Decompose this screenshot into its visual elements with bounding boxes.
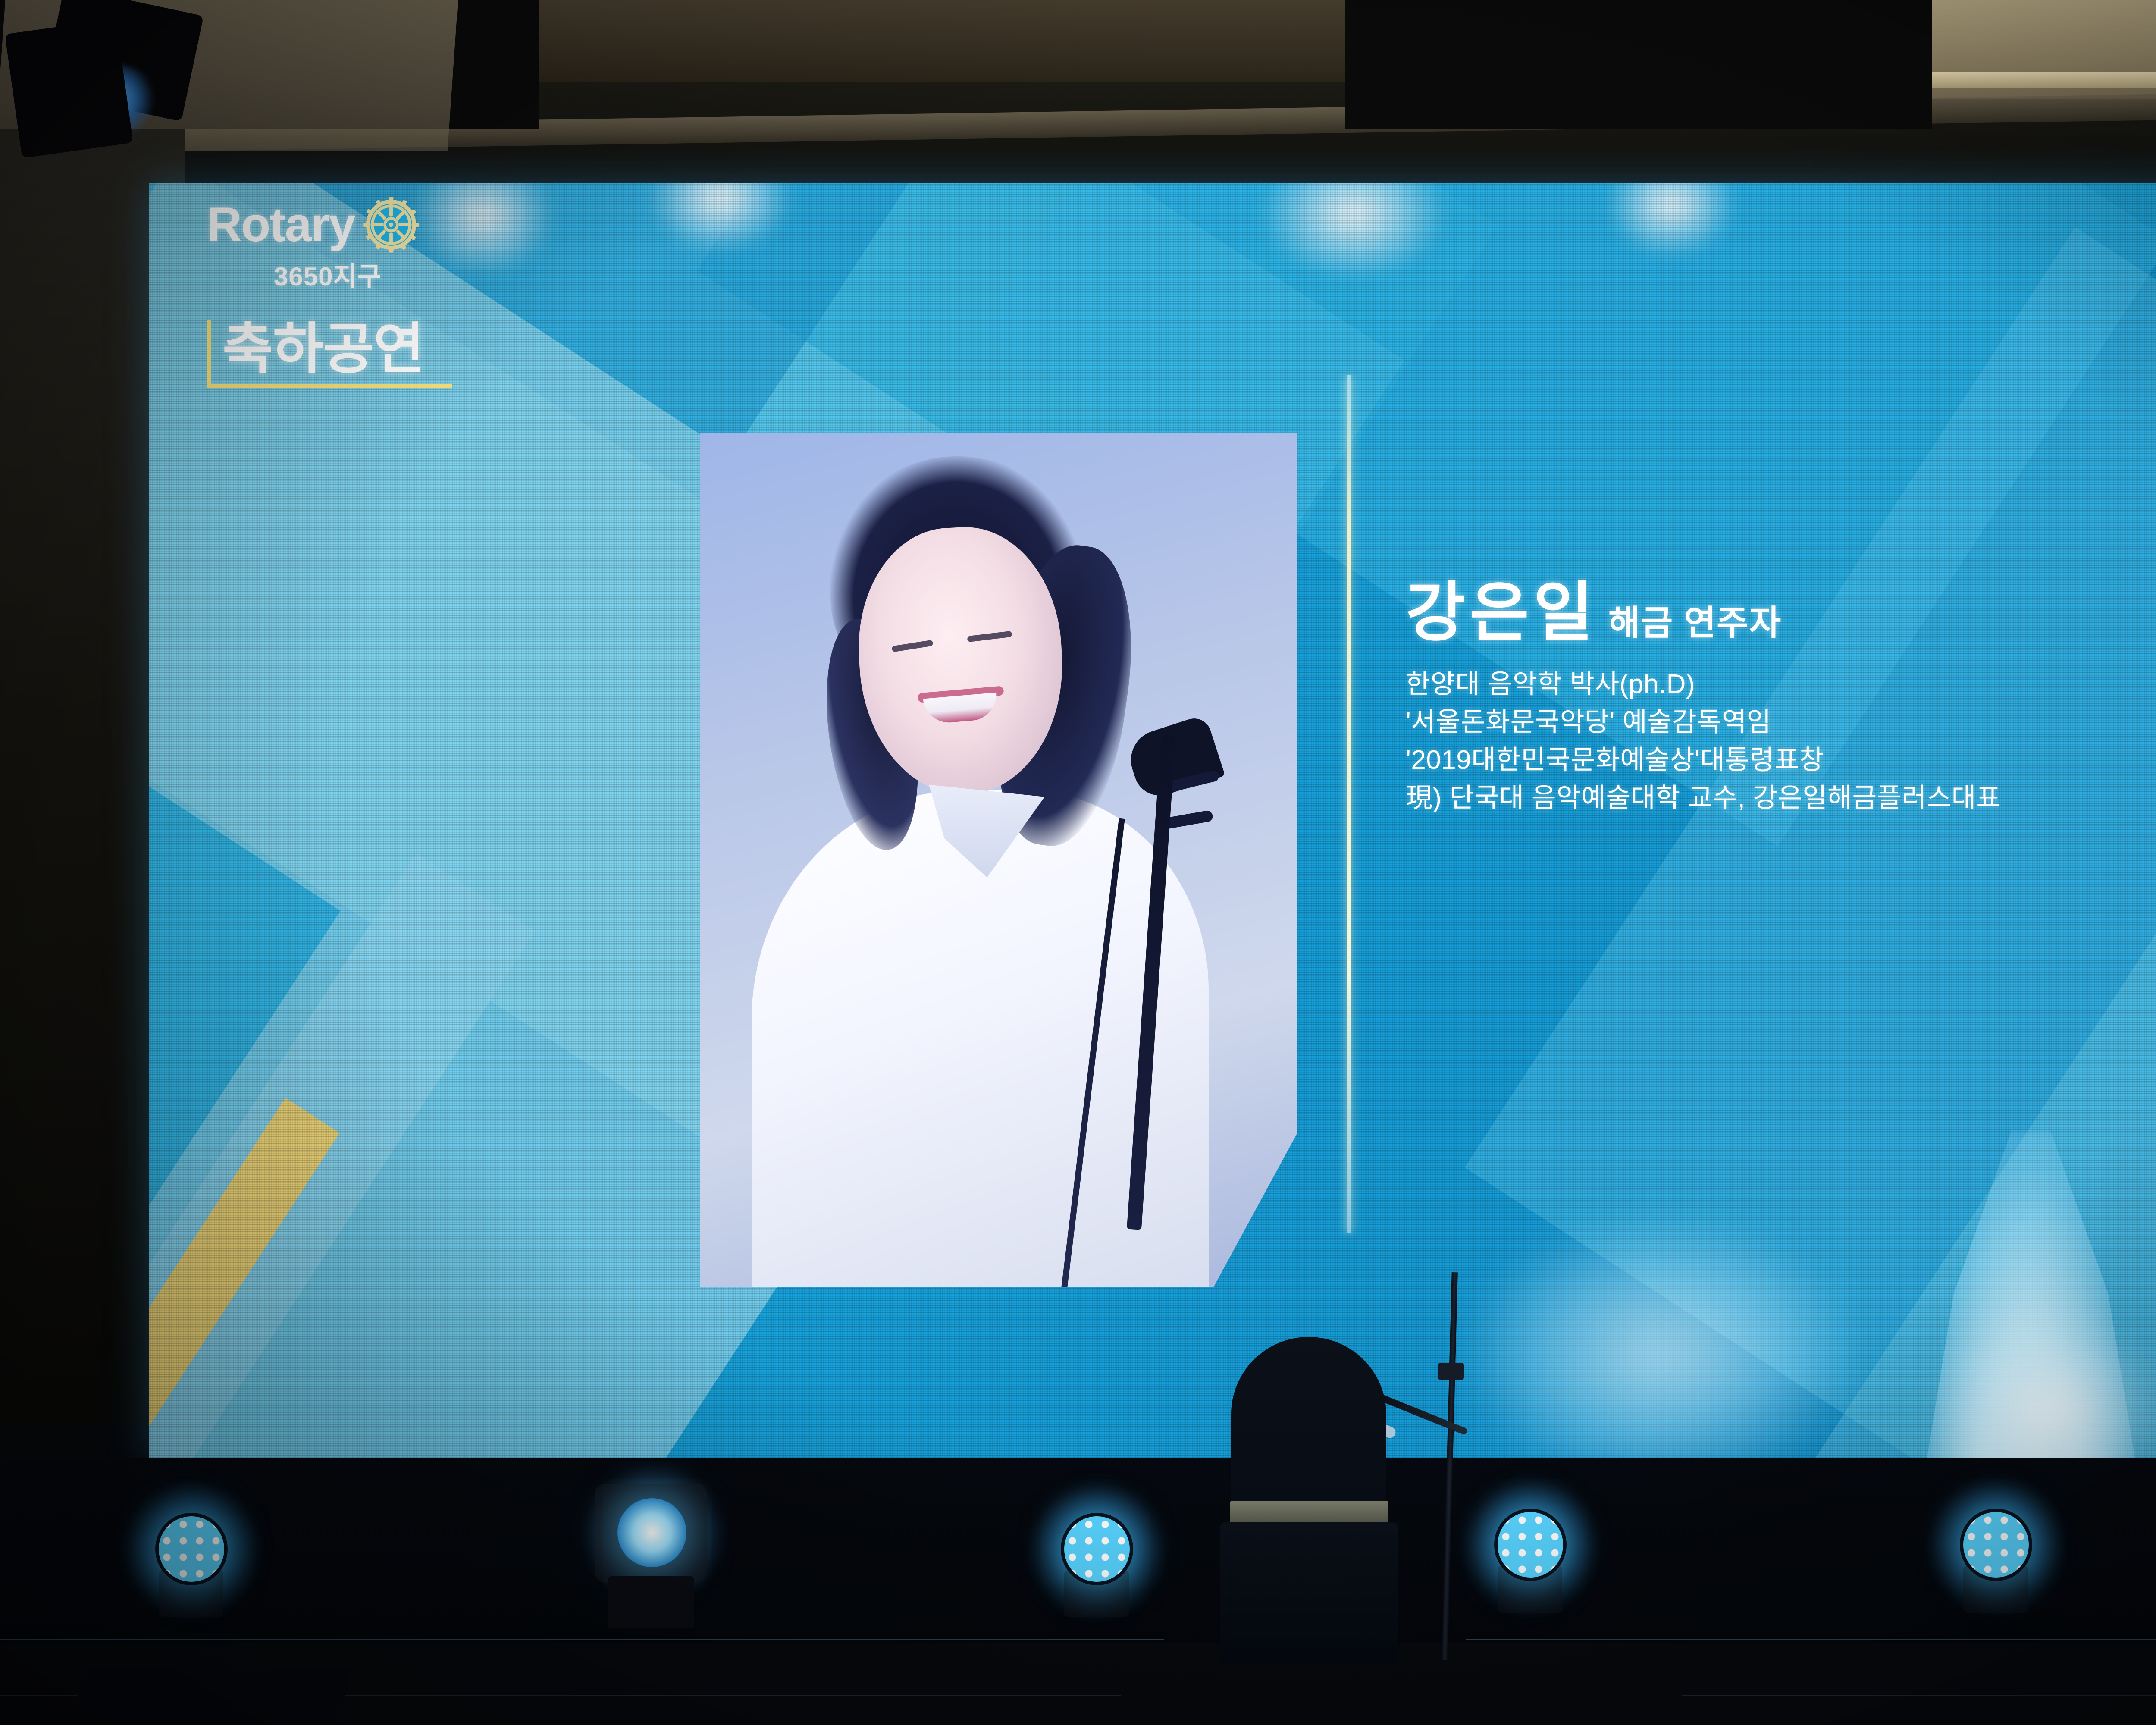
ceiling-soffit-left — [448, 0, 1363, 82]
portrait-haegeum-instrument — [1079, 734, 1222, 1287]
bio-line: '서울돈화문국악당' 예술감독역임 — [1406, 703, 2156, 741]
floor-seam-left — [0, 1639, 1164, 1640]
portrait-image — [700, 433, 1297, 1287]
par-light-3 — [1490, 1505, 1572, 1596]
par-light-1-lens — [155, 1513, 228, 1585]
par-light-3-leds — [1498, 1512, 1563, 1578]
bio-line: '2019대한민국문화예술상'대통령표창 — [1406, 741, 2156, 779]
performer-name-row: 강은일 해금 연주자 — [1406, 580, 2156, 645]
par-light-4-lens — [1960, 1509, 2032, 1581]
par-light-4 — [1955, 1505, 2037, 1596]
par-light-1 — [151, 1509, 233, 1600]
floor-seam-right — [1466, 1639, 2156, 1640]
par-light-3-lens — [1494, 1509, 1567, 1581]
floor-seam-low-right — [1682, 1695, 2156, 1696]
stage-scene: Rotary — [0, 0, 2156, 1725]
haegeum-neck — [1127, 734, 1176, 1230]
bio-line: 現) 단국대 음악예술대학 교수, 강은일해금플러스대표 — [1406, 779, 2156, 817]
par-light-2 — [1056, 1509, 1138, 1600]
vertical-divider — [1347, 375, 1351, 1233]
performer-bio-list: 한양대 음악학 박사(ph.D) '서울돈화문국악당' 예술감독역임 '2019… — [1406, 665, 2156, 817]
moving-head-base — [608, 1576, 694, 1628]
rotary-district-label: 3650지구 — [207, 256, 448, 293]
bio-line: 한양대 음악학 박사(ph.D) — [1406, 665, 2156, 703]
ceiling-dark-mid — [1345, 0, 1932, 129]
stage-chair — [1214, 1337, 1404, 1639]
par-light-2-leds — [1064, 1516, 1130, 1582]
performer-info-panel: 강은일 해금 연주자 한양대 음악학 박사(ph.D) '서울돈화문국악당' 예… — [1406, 580, 2156, 817]
moving-head-body — [595, 1483, 707, 1583]
chair-sash — [1230, 1501, 1388, 1525]
chair-seat — [1220, 1522, 1398, 1665]
badge-label: 축하공연 — [222, 322, 424, 377]
rotary-wheel-icon — [363, 196, 420, 253]
par-light-2-lens — [1061, 1513, 1133, 1585]
performer-role: 해금 연주자 — [1608, 606, 1782, 640]
par-light-1-leds — [159, 1516, 224, 1582]
hanging-light-left-2 — [5, 19, 133, 158]
floor-wedge-speaker — [72, 1669, 351, 1725]
stage-smoke-left — [1466, 1220, 1854, 1488]
par-light-4-leds — [1963, 1512, 2029, 1578]
performance-badge: 축하공연 — [207, 306, 466, 388]
rotary-logo-block: Rotary — [207, 196, 595, 388]
performer-name: 강은일 — [1406, 580, 1597, 645]
rotary-wordmark: Rotary — [207, 201, 355, 249]
moving-head-light — [595, 1483, 707, 1583]
performer-portrait — [700, 433, 1297, 1287]
microphone-stand-clamp — [1438, 1363, 1464, 1380]
rotary-logo-row: Rotary — [207, 196, 595, 253]
moving-head-lens — [617, 1498, 686, 1567]
